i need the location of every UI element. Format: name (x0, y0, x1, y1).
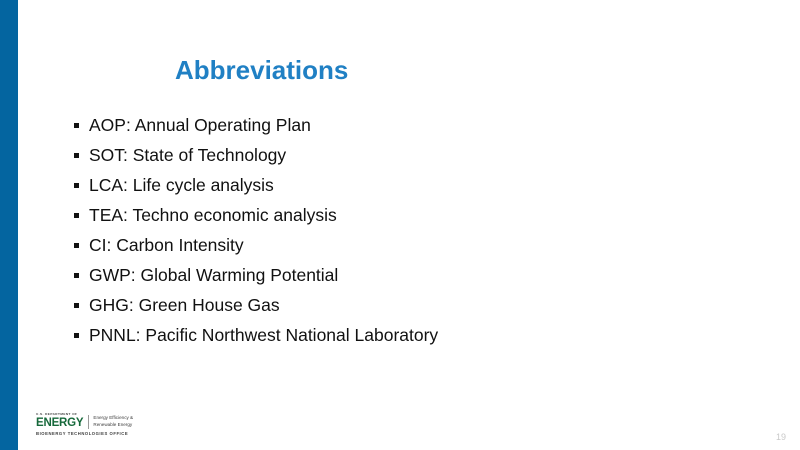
square-bullet-icon (74, 140, 89, 170)
square-bullet-icon (74, 290, 89, 320)
square-bullet-icon (74, 320, 89, 350)
list-item: AOP: Annual Operating Plan (74, 110, 764, 140)
square-bullet-icon (74, 200, 89, 230)
page-title: Abbreviations (175, 56, 348, 85)
doe-wordmark-group: U.S. DEPARTMENT OF ENERGY (36, 412, 83, 429)
square-bullet-icon (74, 230, 89, 260)
list-item: GWP: Global Warming Potential (74, 260, 764, 290)
list-item-label: TEA: Techno economic analysis (89, 200, 764, 230)
list-item-label: SOT: State of Technology (89, 140, 764, 170)
square-bullet-icon (74, 170, 89, 200)
list-item: CI: Carbon Intensity (74, 230, 764, 260)
list-item-label: GWP: Global Warming Potential (89, 260, 764, 290)
list-item: GHG: Green House Gas (74, 290, 764, 320)
list-item: PNNL: Pacific Northwest National Laborat… (74, 320, 764, 350)
logo-divider (88, 415, 89, 429)
logo-office-line-1: Energy Efficiency & (93, 415, 133, 422)
abbreviations-list: AOP: Annual Operating Plan SOT: State of… (74, 110, 764, 350)
logo-office-line-2: Renewable Energy (93, 422, 133, 429)
doe-eere-logo: U.S. DEPARTMENT OF ENERGY Energy Efficie… (36, 412, 236, 436)
list-item-label: CI: Carbon Intensity (89, 230, 764, 260)
square-bullet-icon (74, 260, 89, 290)
logo-top-row: U.S. DEPARTMENT OF ENERGY Energy Efficie… (36, 412, 236, 429)
logo-energy-wordmark: ENERGY (36, 417, 83, 429)
list-item-label: AOP: Annual Operating Plan (89, 110, 764, 140)
list-item: LCA: Life cycle analysis (74, 170, 764, 200)
slide-canvas: Abbreviations AOP: Annual Operating Plan… (0, 0, 800, 450)
list-item-label: LCA: Life cycle analysis (89, 170, 764, 200)
left-accent-bar (0, 0, 18, 450)
list-item-label: PNNL: Pacific Northwest National Laborat… (89, 320, 764, 350)
logo-office-group: Energy Efficiency & Renewable Energy (93, 415, 133, 429)
logo-program-line: BIOENERGY TECHNOLOGIES OFFICE (36, 431, 236, 436)
list-item-label: GHG: Green House Gas (89, 290, 764, 320)
square-bullet-icon (74, 110, 89, 140)
list-item: TEA: Techno economic analysis (74, 200, 764, 230)
page-number: 19 (776, 432, 786, 442)
list-item: SOT: State of Technology (74, 140, 764, 170)
